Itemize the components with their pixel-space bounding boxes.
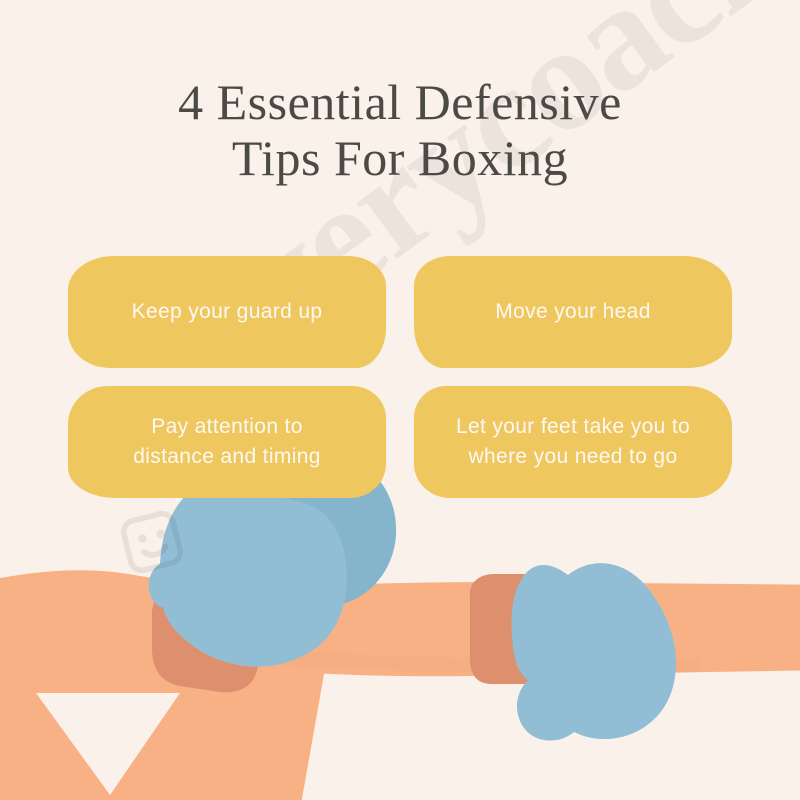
tip-card-line-1: Keep your guard up bbox=[132, 300, 323, 323]
tips-grid: Keep your guard up Move your head Pay at… bbox=[68, 256, 732, 498]
tip-card-line-1: Move your head bbox=[495, 300, 651, 323]
page-title-line-2: Tips For Boxing bbox=[60, 130, 740, 186]
poster-canvas: everycoach 4 Essential Defensive Tips Fo… bbox=[0, 0, 800, 800]
tip-card-line-1: Let your feet take you to bbox=[456, 415, 690, 438]
tip-card-line-2: distance and timing bbox=[133, 442, 321, 472]
page-title: 4 Essential Defensive Tips For Boxing bbox=[0, 74, 800, 186]
tip-card-keep-guard-up[interactable]: Keep your guard up bbox=[68, 256, 386, 368]
tip-card-text: Keep your guard up bbox=[132, 297, 323, 327]
tip-card-footwork[interactable]: Let your feet take you to where you need… bbox=[414, 386, 732, 498]
tip-card-text: Move your head bbox=[495, 297, 651, 327]
tip-card-move-your-head[interactable]: Move your head bbox=[414, 256, 732, 368]
poster-content: 4 Essential Defensive Tips For Boxing Ke… bbox=[0, 0, 800, 800]
tip-card-text: Pay attention to distance and timing bbox=[133, 412, 321, 472]
tip-card-line-1: Pay attention to bbox=[151, 415, 303, 438]
tip-card-line-2: where you need to go bbox=[456, 442, 690, 472]
tip-card-distance-and-timing[interactable]: Pay attention to distance and timing bbox=[68, 386, 386, 498]
page-title-line-1: 4 Essential Defensive bbox=[60, 74, 740, 130]
tip-card-text: Let your feet take you to where you need… bbox=[456, 412, 690, 472]
